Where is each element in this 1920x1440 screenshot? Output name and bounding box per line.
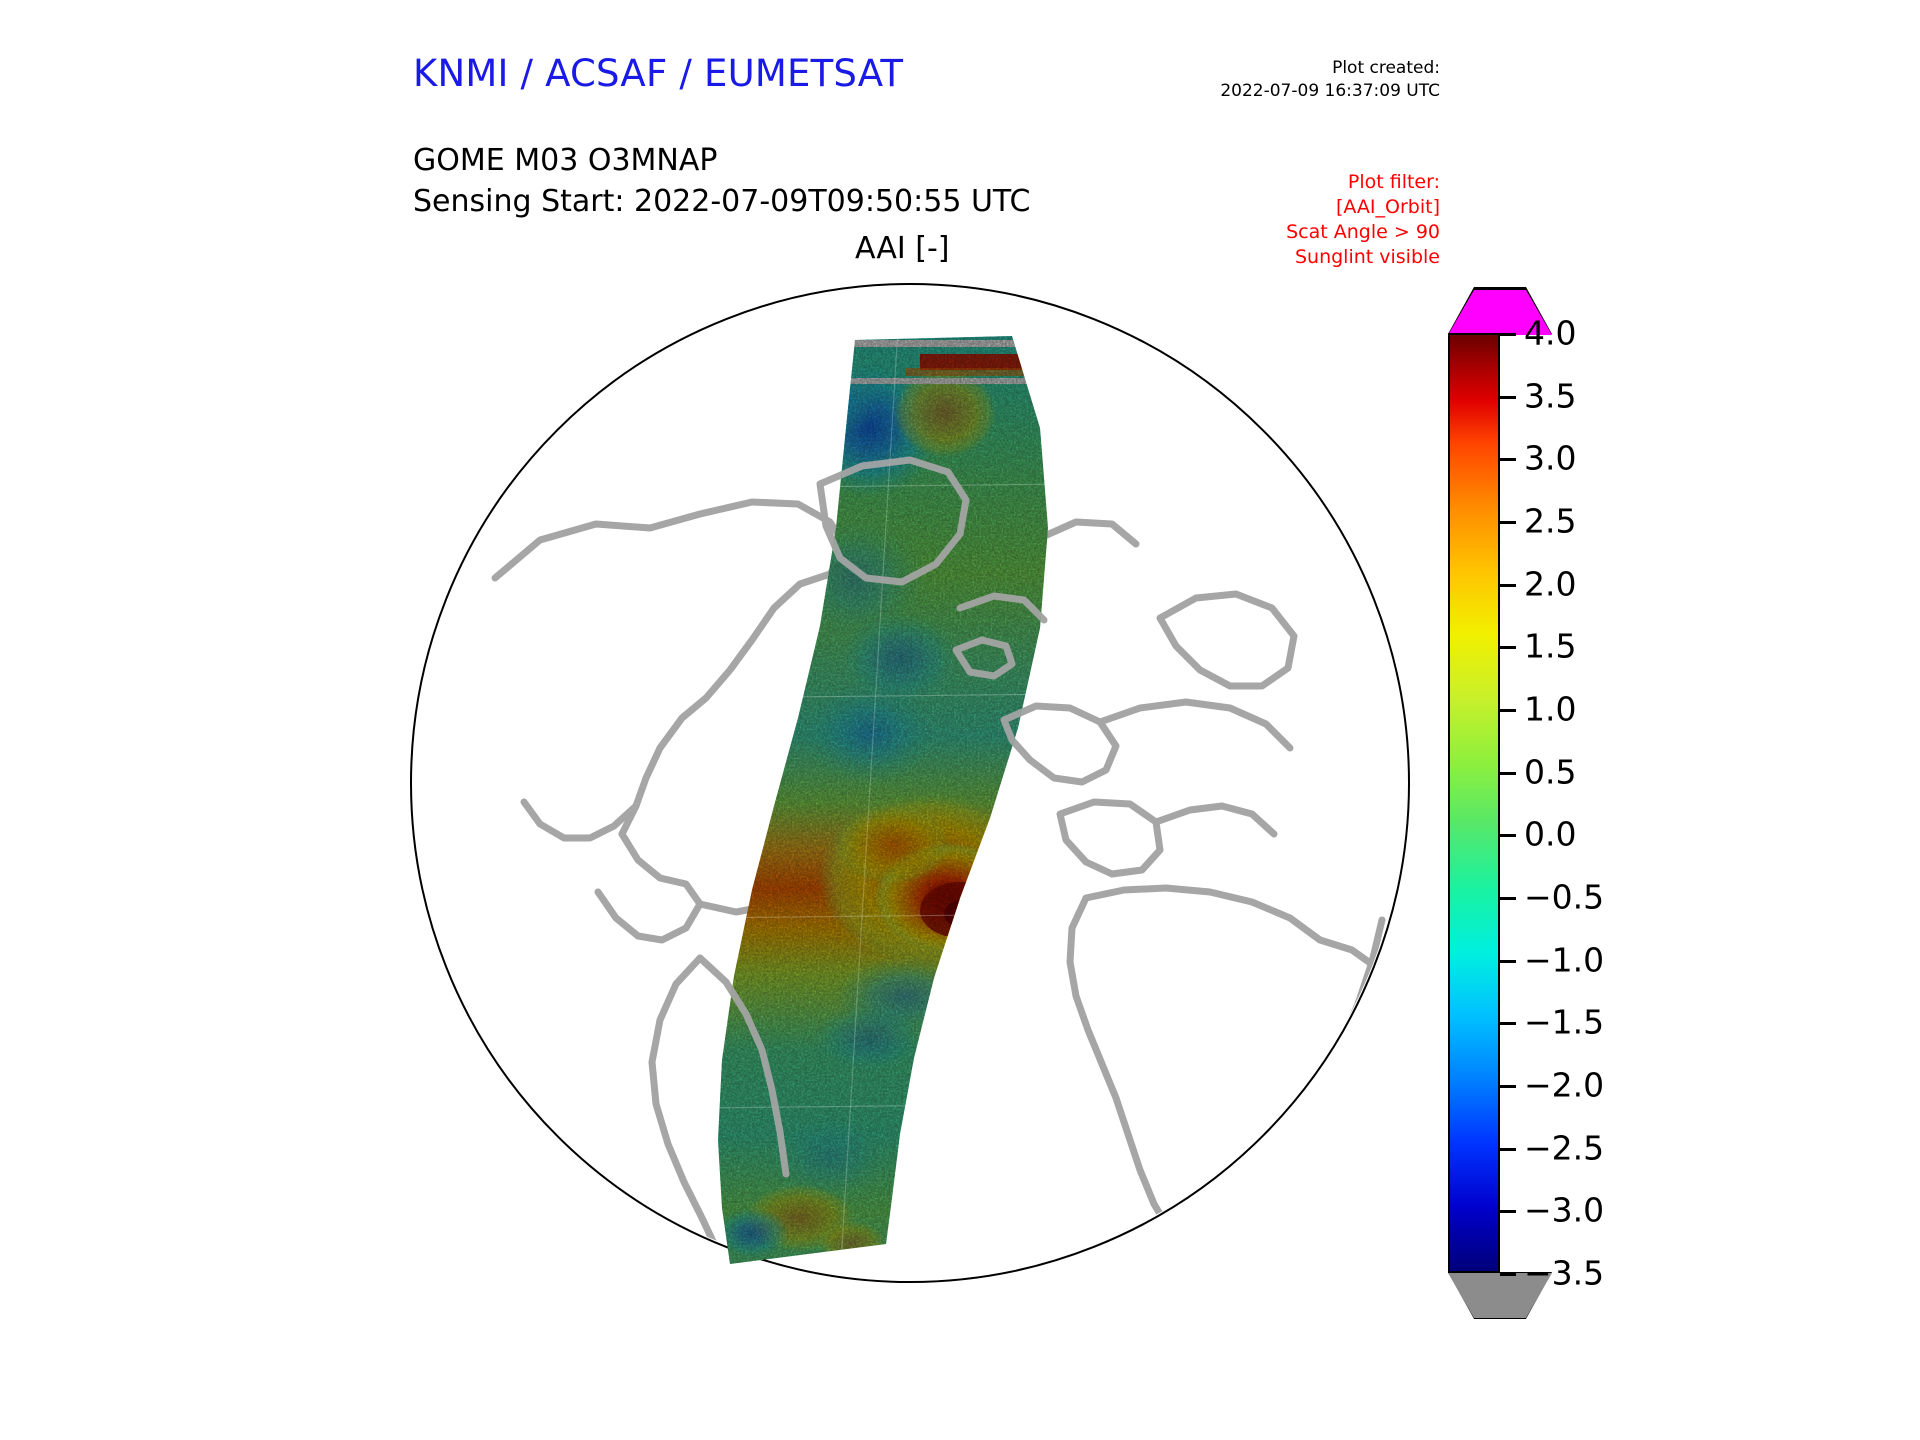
- sensing-start-line: Sensing Start: 2022-07-09T09:50:55 UTC: [413, 181, 1030, 222]
- colorbar-tick: [1500, 646, 1516, 649]
- colorbar-tick: [1500, 834, 1516, 837]
- colorbar-tick-label: −1.5: [1524, 1003, 1604, 1042]
- instrument-title: GOME M03 O3MNAP: [413, 140, 1030, 181]
- colorbar-tick: [1500, 772, 1516, 775]
- plot-filter-line-1: [AAI_Orbit]: [1190, 195, 1440, 220]
- colorbar-tick: [1500, 1210, 1516, 1213]
- colorbar-tick: [1500, 1022, 1516, 1025]
- colorbar-tick: [1500, 709, 1516, 712]
- colorbar-tick-label: 0.0: [1524, 815, 1576, 854]
- colorbar-gradient: [1448, 333, 1500, 1273]
- colorbar-tick-label: 1.5: [1524, 627, 1576, 666]
- colorbar-tick-label: −0.5: [1524, 878, 1604, 917]
- organization-title: KNMI / ACSAF / EUMETSAT: [413, 52, 903, 95]
- colorbar-tick-label: −2.5: [1524, 1128, 1604, 1167]
- colorbar-tick-label: 2.5: [1524, 502, 1576, 541]
- colorbar-tick: [1500, 1085, 1516, 1088]
- colorbar-tick-label: −2.0: [1524, 1066, 1604, 1105]
- colorbar-tick-label: 4.0: [1524, 314, 1576, 353]
- orthographic-map: [400, 278, 1400, 1298]
- colorbar-tick-label: 2.0: [1524, 564, 1576, 603]
- plot-filter-block: Plot filter: [AAI_Orbit] Scat Angle > 90…: [1190, 170, 1440, 270]
- colorbar-tick: [1500, 333, 1516, 336]
- colorbar-tick-label: 1.0: [1524, 690, 1576, 729]
- colorbar: 4.03.53.02.52.01.51.00.50.0−0.5−1.0−1.5−…: [1440, 285, 1660, 1325]
- plot-created-timestamp: 2022-07-09 16:37:09 UTC: [1140, 80, 1440, 103]
- colorbar-tick-label: 3.5: [1524, 376, 1576, 415]
- colorbar-tick-label: −3.0: [1524, 1191, 1604, 1230]
- colorbar-tick: [1500, 521, 1516, 524]
- aai-swath-data: [400, 278, 1420, 1298]
- colorbar-tick: [1500, 584, 1516, 587]
- colorbar-tick: [1500, 897, 1516, 900]
- plot-filter-line-2: Scat Angle > 90: [1190, 220, 1440, 245]
- colorbar-tick-label: −3.5: [1524, 1254, 1604, 1293]
- dataset-title-block: GOME M03 O3MNAP Sensing Start: 2022-07-0…: [413, 140, 1030, 222]
- plot-created-label: Plot created:: [1140, 57, 1440, 80]
- variable-label: AAI [-]: [855, 231, 950, 266]
- colorbar-tick: [1500, 1148, 1516, 1151]
- plot-filter-line-3: Sunglint visible: [1190, 245, 1440, 270]
- plot-created-block: Plot created: 2022-07-09 16:37:09 UTC: [1140, 57, 1440, 103]
- colorbar-tick-label: −1.0: [1524, 940, 1604, 979]
- colorbar-tick: [1500, 458, 1516, 461]
- colorbar-tick: [1500, 1273, 1516, 1276]
- colorbar-tick-label: 0.5: [1524, 752, 1576, 791]
- colorbar-tick: [1500, 396, 1516, 399]
- plot-filter-title: Plot filter:: [1190, 170, 1440, 195]
- colorbar-tick: [1500, 960, 1516, 963]
- colorbar-tick-label: 3.0: [1524, 439, 1576, 478]
